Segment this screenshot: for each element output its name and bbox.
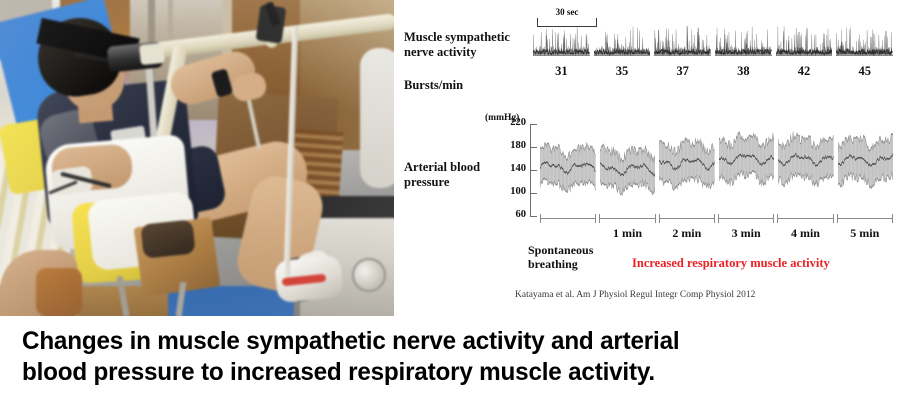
- citation-text: Katayama et al. Am J Physiol Regul Integ…: [515, 290, 755, 300]
- abp-x-axis-label: 1 min: [599, 226, 655, 242]
- caption-line-2: blood pressure to increased respiratory …: [22, 357, 856, 388]
- slide-caption: Changes in muscle sympathetic nerve acti…: [22, 326, 856, 388]
- abp-x-segment: [718, 213, 774, 225]
- experiment-photo: [0, 0, 394, 316]
- scale-bar-label: 30 sec: [537, 7, 597, 17]
- abp-x-segment: [659, 213, 715, 225]
- abp-y-tick: [530, 170, 537, 171]
- abp-plot-area: 22018014010060: [488, 120, 893, 220]
- abp-y-tick: [530, 124, 537, 125]
- abp-trace-segment: [778, 122, 834, 216]
- abp-x-segment: [837, 213, 893, 225]
- physiology-figure: Muscle sympathetic nerve activity Bursts…: [400, 0, 900, 318]
- spontaneous-line-1: Spontaneous: [528, 243, 593, 257]
- x-segment-line: [540, 218, 596, 219]
- msna-trace-row: [533, 22, 893, 56]
- photo-blur-overlay: [0, 0, 394, 316]
- caption-line-1: Changes in muscle sympathetic nerve acti…: [22, 326, 856, 357]
- abp-x-axis-labels: 1 min2 min3 min4 min5 min: [540, 226, 893, 242]
- abp-trace-row: [540, 122, 893, 216]
- spontaneous-line-2: breathing: [528, 257, 593, 271]
- abp-x-axis-label: 4 min: [777, 226, 833, 242]
- abp-x-segment: [540, 213, 596, 225]
- abp-y-tick: [530, 193, 537, 194]
- x-segment-line: [718, 218, 774, 219]
- bursts-value-row: 313537384245: [533, 64, 893, 80]
- x-segment-line: [777, 218, 833, 219]
- x-segment-line: [599, 218, 655, 219]
- x-segment-line: [837, 218, 893, 219]
- abp-trace-segment: [659, 122, 715, 216]
- x-segment-cap-right: [595, 214, 596, 223]
- bursts-value: 37: [654, 64, 711, 80]
- bursts-value: 31: [533, 64, 590, 80]
- abp-x-segment: [599, 213, 655, 225]
- abp-x-axis: [540, 213, 893, 225]
- abp-x-axis-label: 5 min: [837, 226, 893, 242]
- msna-axis-label: Muscle sympathetic nerve activity: [404, 30, 534, 60]
- abp-y-tick-label: 180: [488, 140, 526, 151]
- abp-y-tick-label: 140: [488, 163, 526, 174]
- abp-y-tick-label: 220: [488, 117, 526, 128]
- msna-trace-segment: [715, 22, 772, 56]
- abp-trace-segment: [540, 122, 596, 216]
- x-segment-cap-right: [773, 214, 774, 223]
- abp-x-axis-label: [540, 226, 596, 242]
- msna-trace-segment: [654, 22, 711, 56]
- abp-y-tick-label: 100: [488, 186, 526, 197]
- x-segment-line: [659, 218, 715, 219]
- abp-trace-segment: [838, 122, 894, 216]
- bursts-value: 42: [776, 64, 833, 80]
- msna-trace-segment: [836, 22, 893, 56]
- abp-x-segment: [777, 213, 833, 225]
- x-segment-cap-right: [833, 214, 834, 223]
- x-segment-cap-right: [714, 214, 715, 223]
- x-segment-cap-right: [892, 214, 893, 223]
- slide-root: Muscle sympathetic nerve activity Bursts…: [0, 0, 900, 415]
- abp-x-axis-label: 2 min: [659, 226, 715, 242]
- msna-trace-segment: [776, 22, 833, 56]
- bursts-value: 45: [836, 64, 893, 80]
- bursts-value: 38: [715, 64, 772, 80]
- increased-activity-label: Increased respiratory muscle activity: [632, 256, 830, 271]
- bursts-value: 35: [594, 64, 651, 80]
- abp-y-tick-label: 60: [488, 209, 526, 220]
- msna-trace-segment: [594, 22, 651, 56]
- abp-trace-segment: [719, 122, 775, 216]
- spontaneous-breathing-label: Spontaneousbreathing: [528, 243, 593, 271]
- abp-y-tick: [530, 147, 537, 148]
- x-segment-cap-right: [655, 214, 656, 223]
- msna-trace-segment: [533, 22, 590, 56]
- bursts-axis-label: Bursts/min: [404, 78, 463, 93]
- abp-y-tick: [530, 216, 537, 217]
- abp-x-axis-label: 3 min: [718, 226, 774, 242]
- abp-trace-segment: [600, 122, 656, 216]
